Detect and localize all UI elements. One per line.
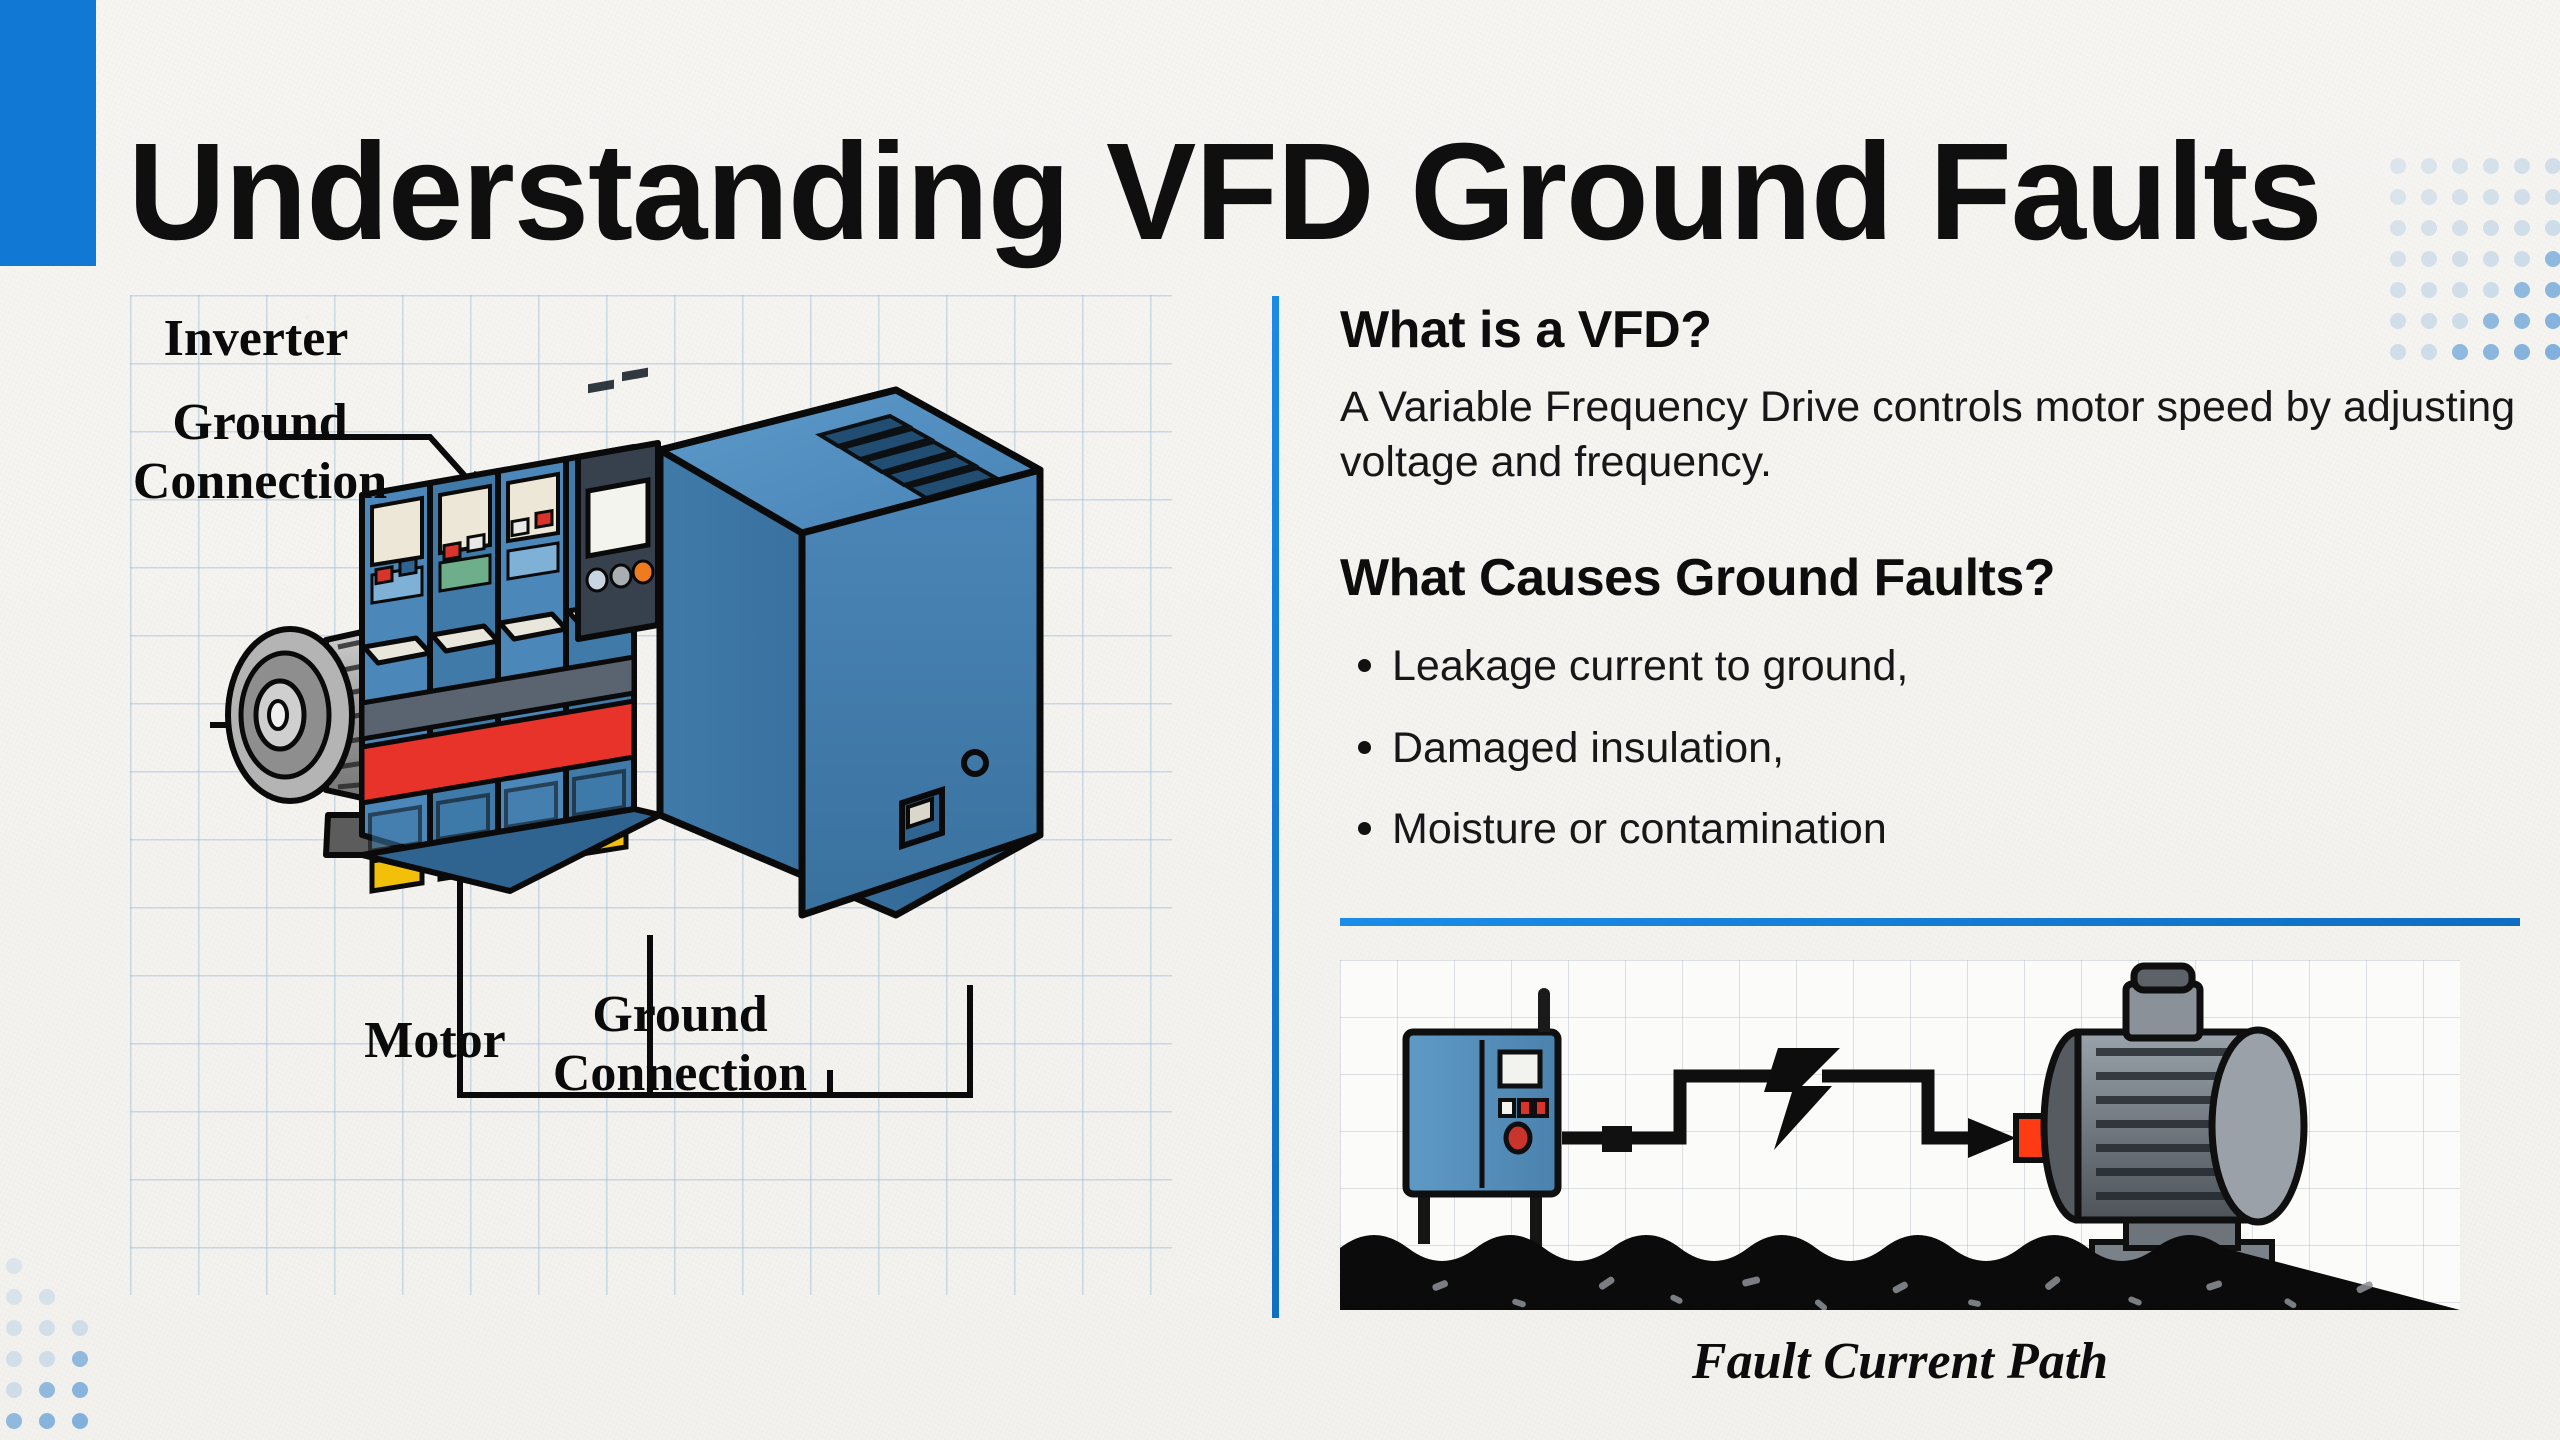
decorative-dot	[39, 1289, 55, 1305]
fault-arc-icon	[1764, 1048, 1840, 1150]
decorative-dot	[6, 1258, 22, 1274]
decorative-dot	[2483, 158, 2499, 174]
decorative-dot	[2421, 251, 2437, 267]
decorative-dot	[6, 1413, 22, 1429]
decorative-dot	[2390, 251, 2406, 267]
decorative-dot	[6, 1320, 22, 1336]
decorative-dot	[72, 1413, 88, 1429]
vfd-diagram-panel: Inverter Ground Connection Motor Ground …	[130, 295, 1172, 1295]
decorative-dot	[72, 1320, 88, 1336]
decorative-dot	[2545, 251, 2560, 267]
decorative-dot	[2514, 189, 2530, 205]
decorative-dot	[6, 1351, 22, 1367]
cable-connector	[1602, 1126, 1632, 1152]
fault-figure-caption: Fault Current Path	[1340, 1332, 2460, 1391]
decorative-dot	[39, 1351, 55, 1367]
soil-ground	[1340, 1235, 2460, 1310]
list-item: Moisture or contamination	[1392, 789, 2520, 871]
control-panel	[578, 368, 658, 639]
decorative-dot	[2514, 158, 2530, 174]
decorative-dot	[2452, 189, 2468, 205]
label-ground-connection-left: Ground Connection	[120, 393, 400, 512]
header-accent-bar	[0, 0, 96, 266]
list-item: Damaged insulation,	[1392, 708, 2520, 790]
decorative-dot	[6, 1382, 22, 1398]
decorative-dot	[2483, 251, 2499, 267]
section-heading: What Causes Ground Faults?	[1340, 548, 2520, 608]
decorative-dot	[2514, 251, 2530, 267]
decorative-dot	[2545, 158, 2560, 174]
fault-current-path-figure	[1340, 960, 2460, 1310]
decorative-dot	[2483, 189, 2499, 205]
section-heading: What is a VFD?	[1340, 300, 2520, 360]
drive-display	[1500, 1052, 1540, 1086]
decorative-dot	[2390, 158, 2406, 174]
lcd-screen	[588, 480, 648, 556]
decorative-dot	[2545, 220, 2560, 236]
decorative-dot	[2452, 158, 2468, 174]
motor-illustration-small	[2044, 966, 2304, 1268]
decorative-dot	[2421, 158, 2437, 174]
decorative-dot	[2390, 220, 2406, 236]
vertical-divider	[1272, 296, 1279, 1318]
decorative-dot	[72, 1351, 88, 1367]
section-what-is-a-vfd: What is a VFD? A Variable Frequency Driv…	[1340, 300, 2520, 490]
decorative-dot	[2483, 282, 2499, 298]
label-line-1: Ground	[520, 985, 840, 1044]
decorative-dot	[2452, 251, 2468, 267]
page-title: Understanding VFD Ground Faults	[128, 122, 2382, 262]
decorative-dot	[2390, 282, 2406, 298]
label-ground-connection-bottom: Ground Connection	[520, 985, 840, 1104]
decorative-dot	[6, 1289, 22, 1305]
decorative-dot	[2390, 189, 2406, 205]
decorative-dot	[2421, 282, 2437, 298]
label-motor: Motor	[320, 1011, 550, 1070]
decorative-dot	[2514, 282, 2530, 298]
decorative-dot	[2545, 189, 2560, 205]
label-line-2: Connection	[120, 452, 400, 511]
decorative-dot	[39, 1382, 55, 1398]
vfd-cabinet-illustration	[358, 368, 1040, 915]
section-body: A Variable Frequency Drive controls moto…	[1340, 380, 2520, 490]
decorative-dot	[2514, 220, 2530, 236]
drive-cabinet	[1406, 988, 1558, 1252]
decorative-dot	[39, 1413, 55, 1429]
label-inverter: Inverter	[126, 309, 386, 368]
label-line-2: Connection	[520, 1044, 840, 1103]
info-panel: What is a VFD? A Variable Frequency Driv…	[1340, 300, 2520, 871]
current-arrow-icon	[1968, 1118, 2016, 1158]
decorative-dot	[2421, 189, 2437, 205]
section-what-causes-ground-faults: What Causes Ground Faults? Leakage curre…	[1340, 548, 2520, 871]
decorative-dot	[2545, 344, 2560, 360]
ground-fault-causes-list: Leakage current to ground, Damaged insul…	[1340, 626, 2520, 871]
decorative-dot	[2483, 220, 2499, 236]
list-item: Leakage current to ground,	[1392, 626, 2520, 708]
decorative-dot	[2545, 313, 2560, 329]
decorative-dot	[2452, 220, 2468, 236]
decorative-dot	[2421, 220, 2437, 236]
decorative-dot	[39, 1320, 55, 1336]
label-line-1: Ground	[120, 393, 400, 452]
decorative-dot	[2452, 282, 2468, 298]
decorative-dot	[2545, 282, 2560, 298]
decorative-dot	[72, 1382, 88, 1398]
ground-terminal-right	[902, 790, 942, 846]
horizontal-divider	[1340, 918, 2520, 926]
fault-path-illustration	[1340, 960, 2460, 1310]
